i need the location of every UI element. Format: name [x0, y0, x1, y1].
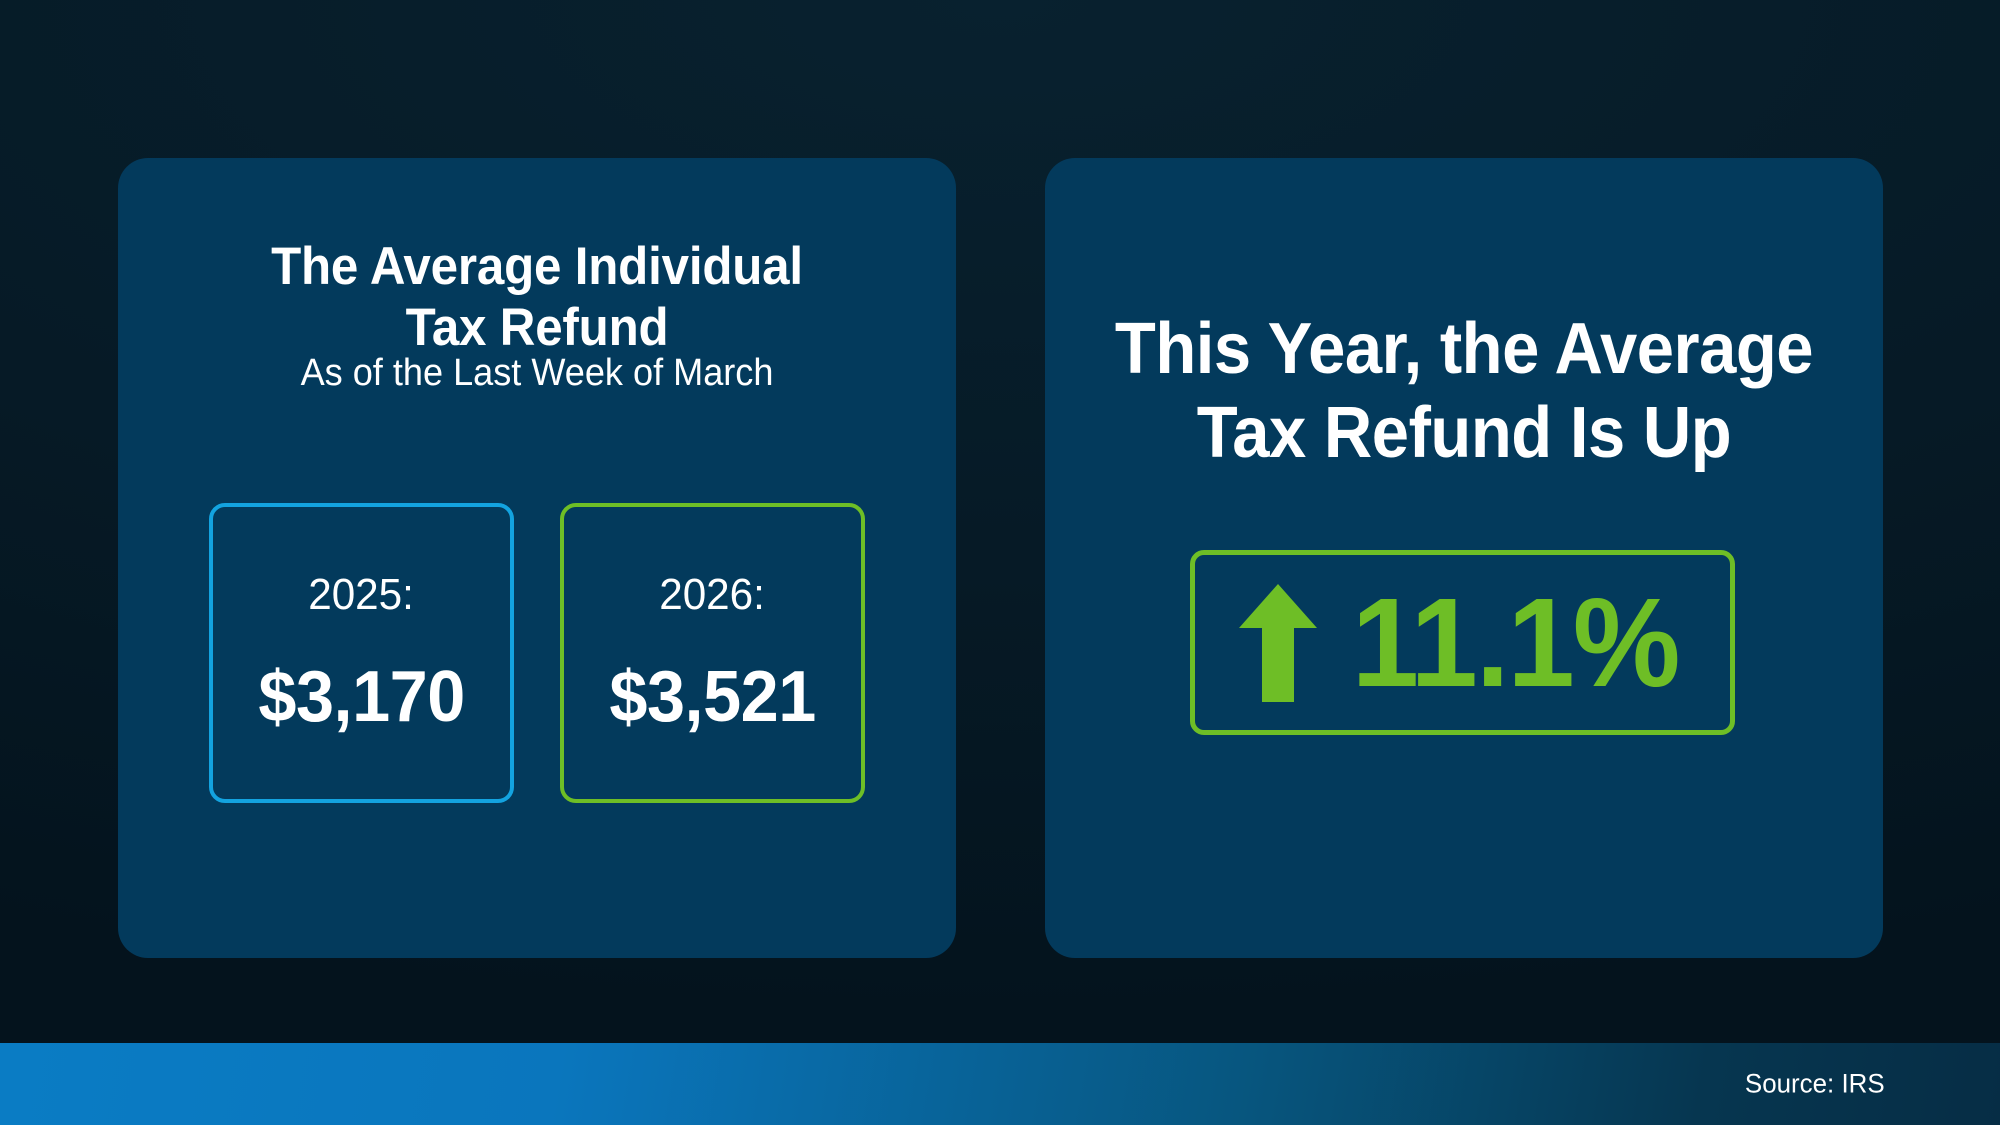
- stat-value-2026: $3,521: [609, 661, 815, 733]
- percent-change-value: 11.1%: [1352, 580, 1679, 706]
- left-panel-title-line1: The Average Individual: [147, 236, 926, 297]
- left-panel-title: The Average Individual Tax Refund: [147, 236, 926, 359]
- right-panel-title: This Year, the Average Tax Refund Is Up: [1099, 308, 1830, 475]
- stat-year-label-2025: 2025:: [309, 573, 415, 617]
- stat-box-row: 2025: $3,170 2026: $3,521: [154, 503, 920, 803]
- stat-box-2025: 2025: $3,170: [209, 503, 514, 803]
- right-panel-title-line2: Tax Refund Is Up: [1099, 392, 1830, 476]
- left-panel-subtitle: As of the Last Week of March: [139, 351, 935, 397]
- footer-bar: Source: IRS: [0, 1043, 2000, 1125]
- arrow-up-icon: [1239, 584, 1317, 702]
- source-label: Source: IRS: [1745, 1069, 1885, 1100]
- right-panel-card: This Year, the Average Tax Refund Is Up …: [1045, 158, 1883, 958]
- stat-year-label-2026: 2026:: [660, 573, 766, 617]
- stat-box-2026: 2026: $3,521: [560, 503, 865, 803]
- percent-change-box: 11.1%: [1190, 550, 1735, 735]
- stat-value-2025: $3,170: [258, 661, 464, 733]
- left-panel-title-line2: Tax Refund: [147, 297, 926, 358]
- left-panel-card: The Average Individual Tax Refund As of …: [118, 158, 956, 958]
- right-panel-title-line1: This Year, the Average: [1099, 308, 1830, 392]
- infographic-slide: The Average Individual Tax Refund As of …: [0, 0, 2000, 1125]
